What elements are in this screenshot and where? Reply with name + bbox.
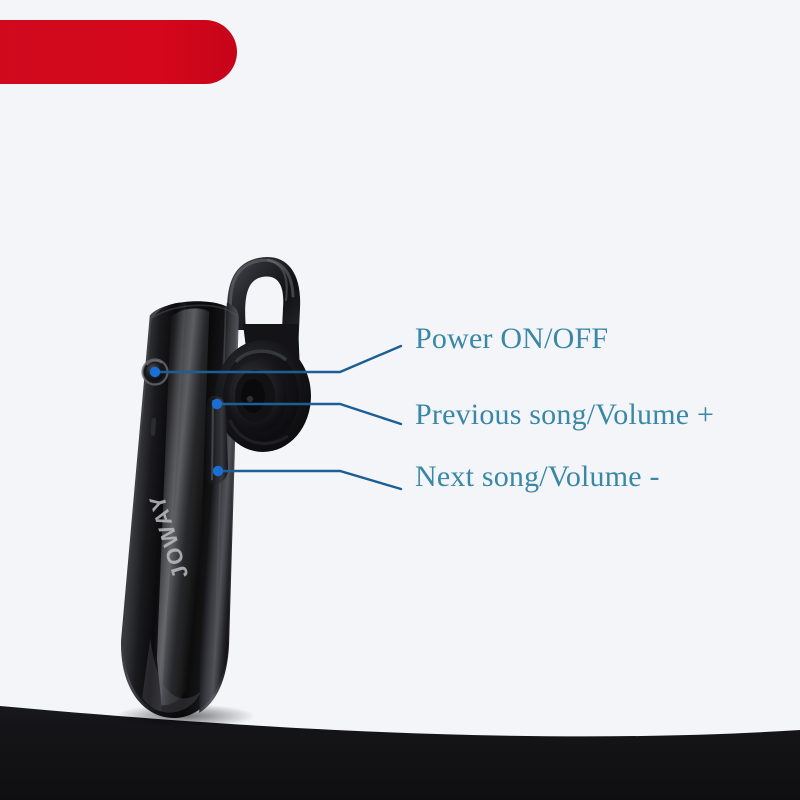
top-red-banner bbox=[0, 20, 237, 84]
callout-dot-power bbox=[150, 367, 160, 377]
callout-label-power: Power ON/OFF bbox=[415, 322, 608, 356]
callout-dot-next bbox=[213, 466, 223, 476]
callout-dot-previous bbox=[212, 399, 222, 409]
ear-bud bbox=[215, 340, 311, 452]
callout-label-next: Next song/Volume - bbox=[415, 460, 660, 494]
product-annotation-image: JOWAY Power ON/OFF Previous song/Volume … bbox=[0, 0, 800, 800]
callout-label-previous: Previous song/Volume + bbox=[415, 398, 714, 432]
